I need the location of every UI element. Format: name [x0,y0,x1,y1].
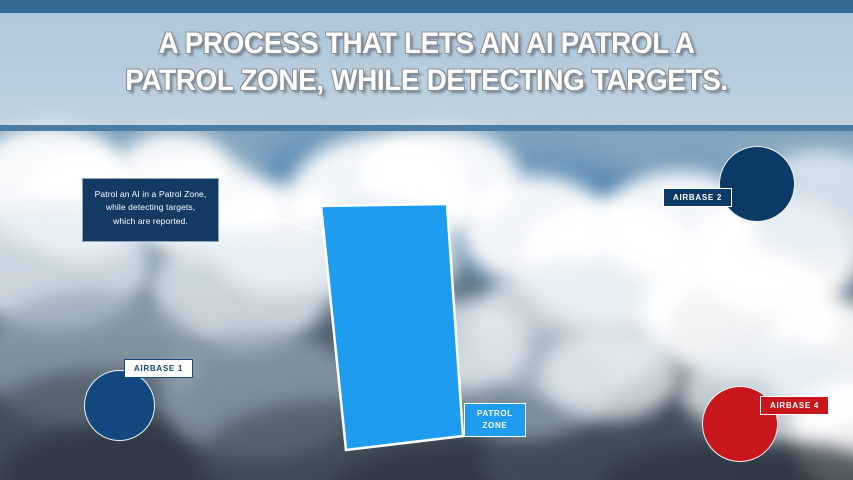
airbase-2-circle[interactable] [719,146,795,222]
slide-canvas: A PROCESS THAT LETS AN AI PATROL A PATRO… [0,0,853,480]
airbase-2-label[interactable]: AIRBASE 2 [663,188,732,207]
header-top-strip [0,0,853,13]
airbase-4-label[interactable]: AIRBASE 4 [760,396,829,415]
page-title: A PROCESS THAT LETS AN AI PATROL A PATRO… [30,26,823,99]
airbase-1-label[interactable]: AIRBASE 1 [124,359,193,378]
airbase-1-circle[interactable] [84,370,155,441]
header-bottom-strip [0,125,853,131]
patrol-zone-label[interactable]: PATROL ZONE [464,403,526,437]
callout-description-box: Patrol an AI in a Patrol Zone, while det… [82,178,219,242]
